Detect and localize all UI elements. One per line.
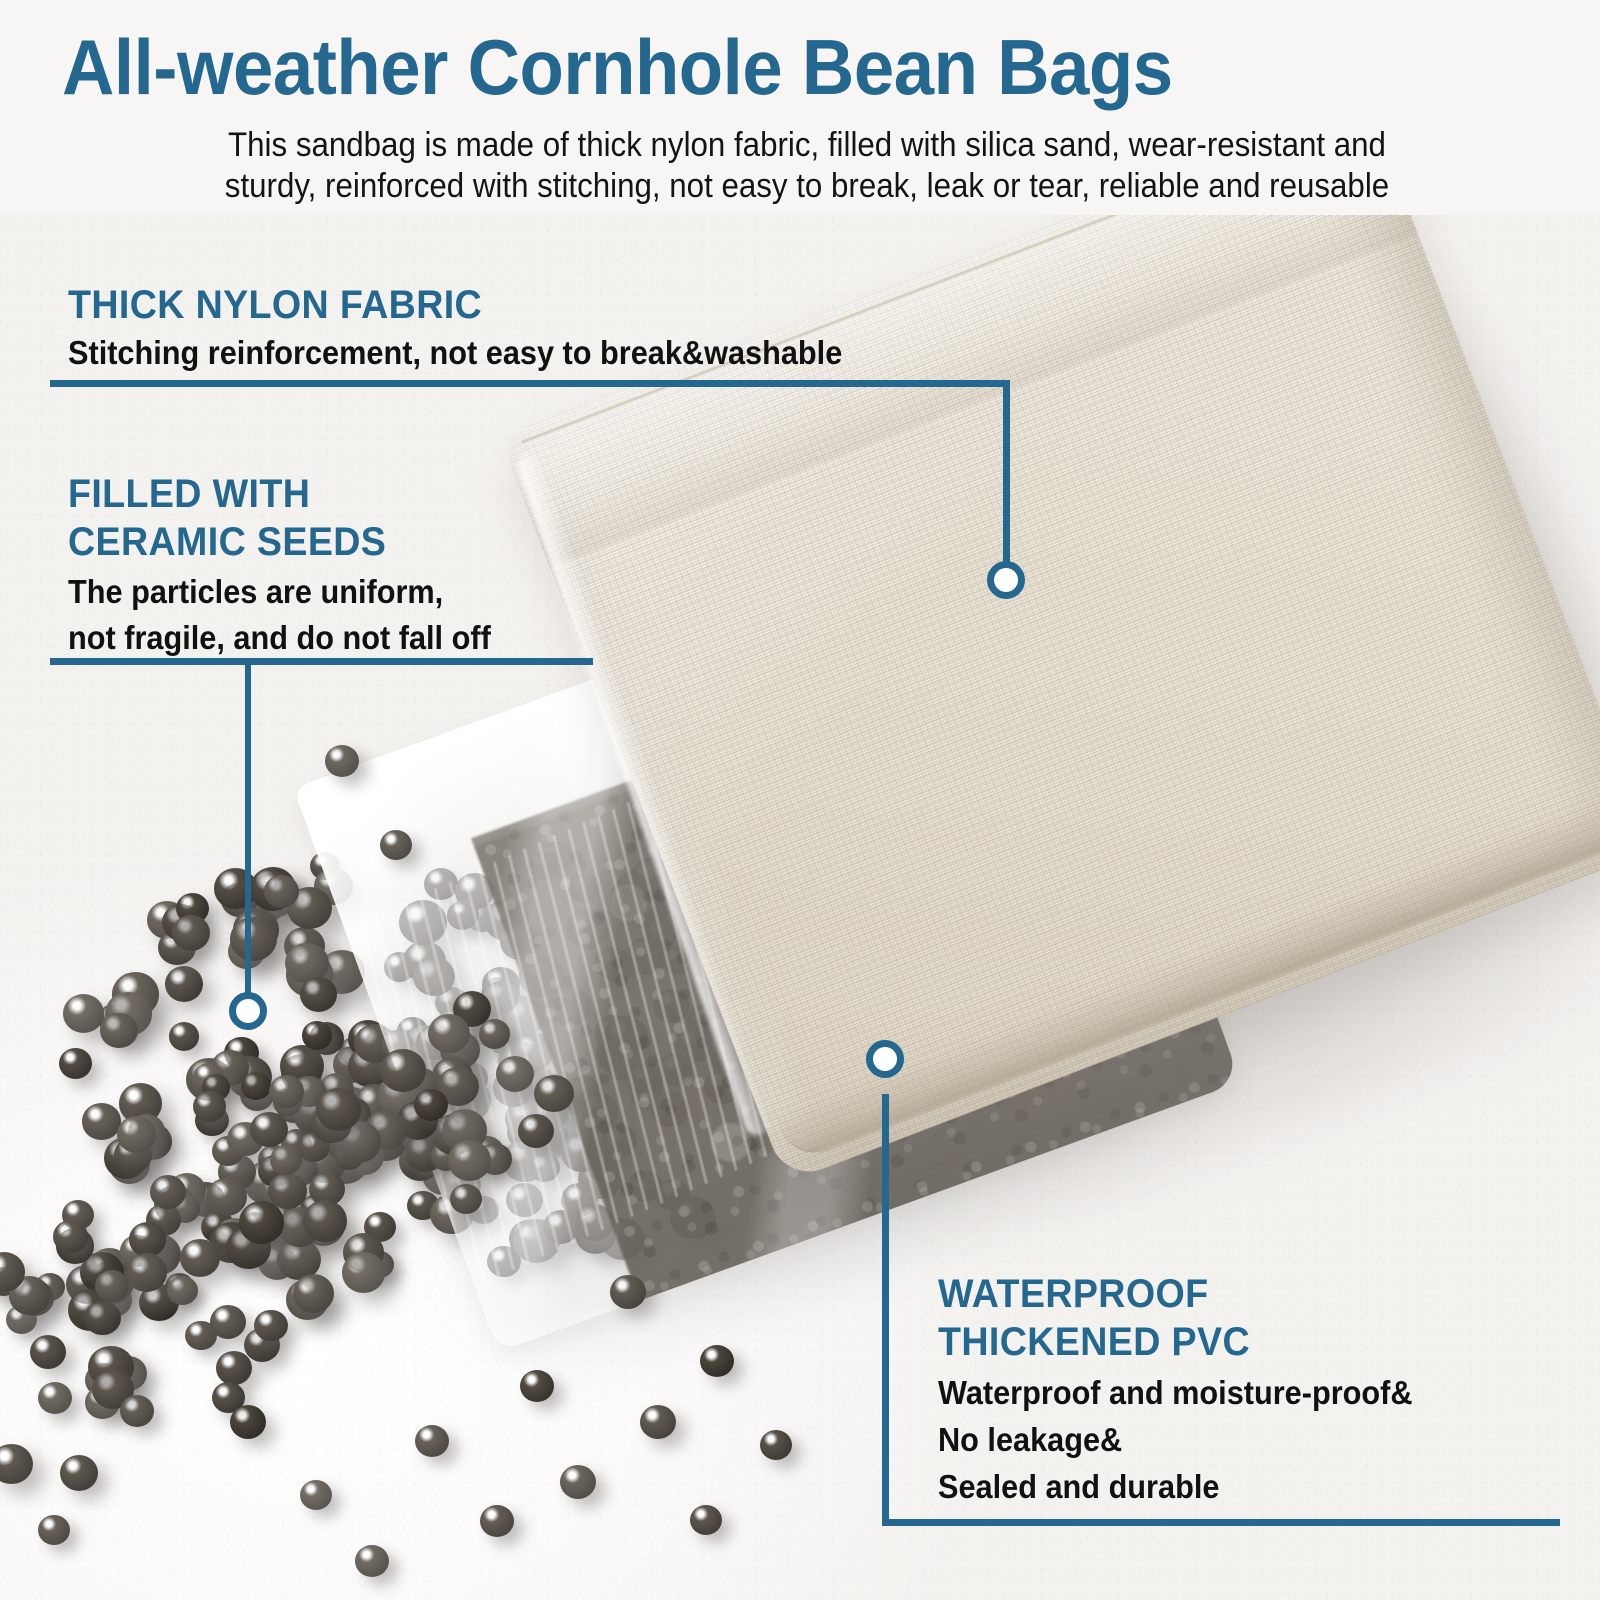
callout-1-rule-horizontal <box>50 380 1010 387</box>
page-subtitle-line-2: sturdy, reinforced with stitching, not e… <box>122 166 1493 207</box>
ceramic-pellet <box>380 1049 426 1092</box>
ceramic-pellet <box>520 1370 554 1402</box>
callout-ceramic-seeds: FILLED WITH CERAMIC SEEDS The particles … <box>68 470 523 658</box>
ceramic-pellet <box>167 1276 198 1305</box>
ceramic-pellet <box>560 1465 596 1499</box>
callout-2-rule-vertical <box>245 658 251 1003</box>
ceramic-pellet <box>496 1056 534 1092</box>
ceramic-pellet <box>230 1405 266 1439</box>
ceramic-pellet <box>30 1335 66 1369</box>
page-subtitle: This sandbag is made of thick nylon fabr… <box>122 125 1493 207</box>
ceramic-pellet <box>518 1114 555 1148</box>
ceramic-pellet <box>414 1089 448 1121</box>
ceramic-pellet <box>126 1253 168 1292</box>
callout-body-line-3: Sealed and durable <box>938 1466 1413 1507</box>
ceramic-pellet <box>38 1515 70 1545</box>
ceramic-pellet <box>415 1425 449 1457</box>
callout-thick-nylon-fabric: THICK NYLON FABRIC Stitching reinforceme… <box>68 282 901 373</box>
ceramic-pellet <box>302 1021 333 1050</box>
ceramic-pellet <box>95 1270 129 1302</box>
ceramic-pellet <box>450 1184 482 1214</box>
callout-body-line-1: Waterproof and moisture-proof& <box>938 1372 1413 1413</box>
ceramic-pellet <box>270 1145 302 1175</box>
ceramic-pellets-foreground <box>0 215 1100 1600</box>
ceramic-pellet <box>610 1275 646 1309</box>
ceramic-pellet <box>239 1201 284 1244</box>
infographic-canvas: All-weather Cornhole Bean Bags This sand… <box>0 0 1600 1600</box>
callout-heading-line-1: WATERPROOF <box>938 1270 1418 1318</box>
ceramic-pellet <box>193 1091 226 1122</box>
ceramic-pellet <box>293 1274 334 1313</box>
page-title: All-weather Cornhole Bean Bags <box>62 24 1457 110</box>
ceramic-pellet <box>210 1305 246 1339</box>
ceramic-pellet <box>206 1178 247 1216</box>
ceramic-pellet <box>479 1019 510 1048</box>
ceramic-pellet <box>480 1505 514 1537</box>
ceramic-pellet <box>700 1345 734 1377</box>
callout-3-rule-horizontal <box>882 1519 1560 1526</box>
ceramic-pellet <box>120 1395 154 1427</box>
ceramic-pellet <box>428 1014 470 1053</box>
callout-waterproof-pvc: WATERPROOF THICKENED PVC Waterproof and … <box>938 1270 1448 1507</box>
callout-heading-line-2: CERAMIC SEEDS <box>68 518 495 566</box>
page-subtitle-line-1: This sandbag is made of thick nylon fabr… <box>122 125 1493 166</box>
ceramic-pellet <box>760 1430 792 1460</box>
callout-marker-fabric <box>987 561 1025 599</box>
ceramic-pellet <box>303 1200 347 1241</box>
callout-heading-line-2: THICKENED PVC <box>938 1318 1418 1366</box>
ceramic-pellet <box>117 1116 156 1153</box>
ceramic-pellet <box>60 1455 98 1491</box>
callout-marker-pvc <box>866 1040 904 1078</box>
ceramic-pellet <box>690 1505 722 1535</box>
ceramic-pellet <box>53 1220 88 1253</box>
ceramic-pellet <box>380 830 412 860</box>
ceramic-pellet <box>534 1075 574 1112</box>
ceramic-pellet <box>216 1351 252 1385</box>
ceramic-pellet <box>172 915 210 951</box>
callout-body: Stitching reinforcement, not easy to bre… <box>68 332 842 373</box>
ceramic-pellet <box>300 1480 332 1510</box>
ceramic-pellet <box>325 745 359 777</box>
ceramic-pellet <box>640 1405 676 1439</box>
ceramic-pellet <box>316 1088 361 1131</box>
ceramic-pellet <box>342 1252 385 1292</box>
ceramic-pellet <box>355 1545 389 1577</box>
ceramic-pellet <box>129 1222 166 1257</box>
callout-marker-seeds <box>229 992 267 1030</box>
ceramic-pellet <box>0 1444 33 1485</box>
callout-1-rule-vertical <box>1003 380 1010 572</box>
ceramic-pellet <box>84 1301 121 1336</box>
ceramic-pellet <box>180 1239 220 1277</box>
callout-body-line-1: The particles are uniform, <box>68 572 491 612</box>
callout-heading: THICK NYLON FABRIC <box>68 282 851 328</box>
ceramic-pellet <box>448 1140 491 1180</box>
callout-2-rule-horizontal <box>50 658 593 665</box>
ceramic-pellet <box>241 1072 271 1100</box>
callout-heading-line-1: FILLED WITH <box>68 470 495 518</box>
ceramic-pellet <box>38 1382 72 1414</box>
callout-body-line-2: No leakage& <box>938 1419 1413 1460</box>
ceramic-pellet <box>150 1175 186 1209</box>
callout-3-rule-vertical <box>882 1094 889 1526</box>
ceramic-pellet <box>254 1310 288 1342</box>
callout-body-line-2: not fragile, and do not fall off <box>68 618 491 658</box>
ceramic-pellet <box>300 977 337 1012</box>
